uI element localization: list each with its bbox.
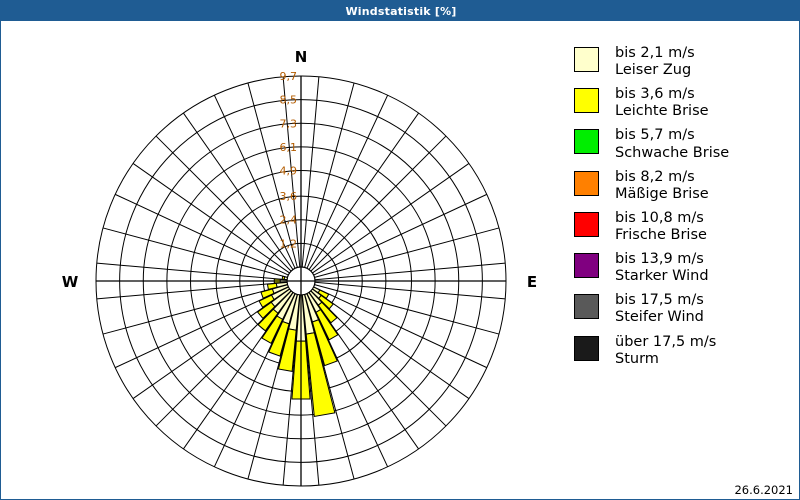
legend-color-swatch [574, 212, 599, 237]
grid-spoke [115, 194, 288, 275]
legend-label: bis 2,1 m/sLeiser Zug [615, 45, 695, 79]
legend-speed-range: bis 2,1 m/s [615, 45, 695, 61]
cardinal-label-north: N [295, 48, 308, 66]
wind-rose-svg: 1,22,43,64,96,17,38,59,7 NESW [2, 21, 562, 491]
legend-speed-range: bis 8,2 m/s [615, 169, 695, 185]
legend-label: über 17,5 m/sSturm [615, 334, 716, 368]
legend-item: bis 10,8 m/sFrische Brise [574, 210, 796, 244]
grid-spoke [314, 194, 487, 275]
grid-spoke [311, 136, 446, 271]
radial-tick-label: 3,6 [280, 190, 298, 203]
legend-label: bis 8,2 m/sMäßige Brise [615, 169, 709, 203]
legend-item: bis 17,5 m/sSteifer Wind [574, 292, 796, 326]
radial-tick-label: 7,3 [280, 117, 298, 130]
legend-color-swatch [574, 129, 599, 154]
radial-tick-label: 2,4 [280, 214, 298, 227]
legend-item: bis 3,6 m/sLeichte Brise [574, 86, 796, 120]
legend-item: bis 8,2 m/sMäßige Brise [574, 169, 796, 203]
legend-color-swatch [574, 253, 599, 278]
radial-tick-label: 6,1 [280, 141, 298, 154]
legend-color-swatch [574, 47, 599, 72]
wind-rose-petal-segment [282, 276, 284, 279]
radial-tick-labels: 1,22,43,64,96,17,38,59,7 [280, 70, 298, 250]
legend-beaufort-name: Starker Wind [615, 268, 709, 285]
chart-content-area: 1,22,43,64,96,17,38,59,7 NESW bis 2,1 m/… [2, 21, 799, 499]
legend-color-swatch [574, 294, 599, 319]
radial-tick-label: 9,7 [280, 70, 298, 83]
window-title-bar: Windstatistik [%] [1, 1, 800, 21]
legend-speed-range: bis 13,9 m/s [615, 251, 704, 267]
grid-spoke [156, 136, 291, 271]
legend-speed-range: bis 17,5 m/s [615, 292, 704, 308]
legend-item: bis 2,1 m/sLeiser Zug [574, 45, 796, 79]
legend-beaufort-name: Steifer Wind [615, 309, 704, 326]
legend-color-swatch [574, 88, 599, 113]
legend-beaufort-name: Mäßige Brise [615, 186, 709, 203]
legend-beaufort-name: Schwache Brise [615, 145, 729, 162]
legend-label: bis 13,9 m/sStarker Wind [615, 251, 709, 285]
radial-tick-label: 8,5 [280, 94, 298, 107]
legend-beaufort-name: Frische Brise [615, 227, 707, 244]
legend-item: bis 13,9 m/sStarker Wind [574, 251, 796, 285]
legend-speed-range: über 17,5 m/s [615, 334, 716, 350]
legend-speed-range: bis 5,7 m/s [615, 127, 695, 143]
legend-label: bis 5,7 m/sSchwache Brise [615, 127, 729, 161]
legend-color-swatch [574, 171, 599, 196]
legend-item: über 17,5 m/sSturm [574, 334, 796, 368]
legend-label: bis 17,5 m/sSteifer Wind [615, 292, 704, 326]
wind-rose-chart: 1,22,43,64,96,17,38,59,7 NESW [2, 21, 562, 491]
legend-beaufort-name: Leichte Brise [615, 103, 709, 120]
legend-label: bis 3,6 m/sLeichte Brise [615, 86, 709, 120]
legend-beaufort-name: Sturm [615, 351, 716, 368]
window-title: Windstatistik [%] [345, 5, 456, 18]
cardinal-label-east: E [527, 273, 537, 291]
legend-color-swatch [574, 336, 599, 361]
legend-item: bis 5,7 m/sSchwache Brise [574, 127, 796, 161]
legend-speed-range: bis 3,6 m/s [615, 86, 695, 102]
grid-spoke [307, 95, 388, 268]
radial-tick-label: 4,9 [280, 165, 298, 178]
date-stamp: 26.6.2021 [734, 483, 793, 497]
grid-spoke [314, 287, 487, 368]
cardinal-label-west: W [62, 273, 79, 291]
radial-tick-label: 1,2 [280, 237, 298, 250]
legend-speed-range: bis 10,8 m/s [615, 210, 704, 226]
legend-beaufort-name: Leiser Zug [615, 62, 695, 79]
windstatistik-window: Windstatistik [%] 1,22,43,64,96,17,38,59… [0, 0, 800, 500]
legend-label: bis 10,8 m/sFrische Brise [615, 210, 707, 244]
wind-rose-petals [258, 276, 338, 416]
legend: bis 2,1 m/sLeiser Zugbis 3,6 m/sLeichte … [574, 45, 796, 375]
